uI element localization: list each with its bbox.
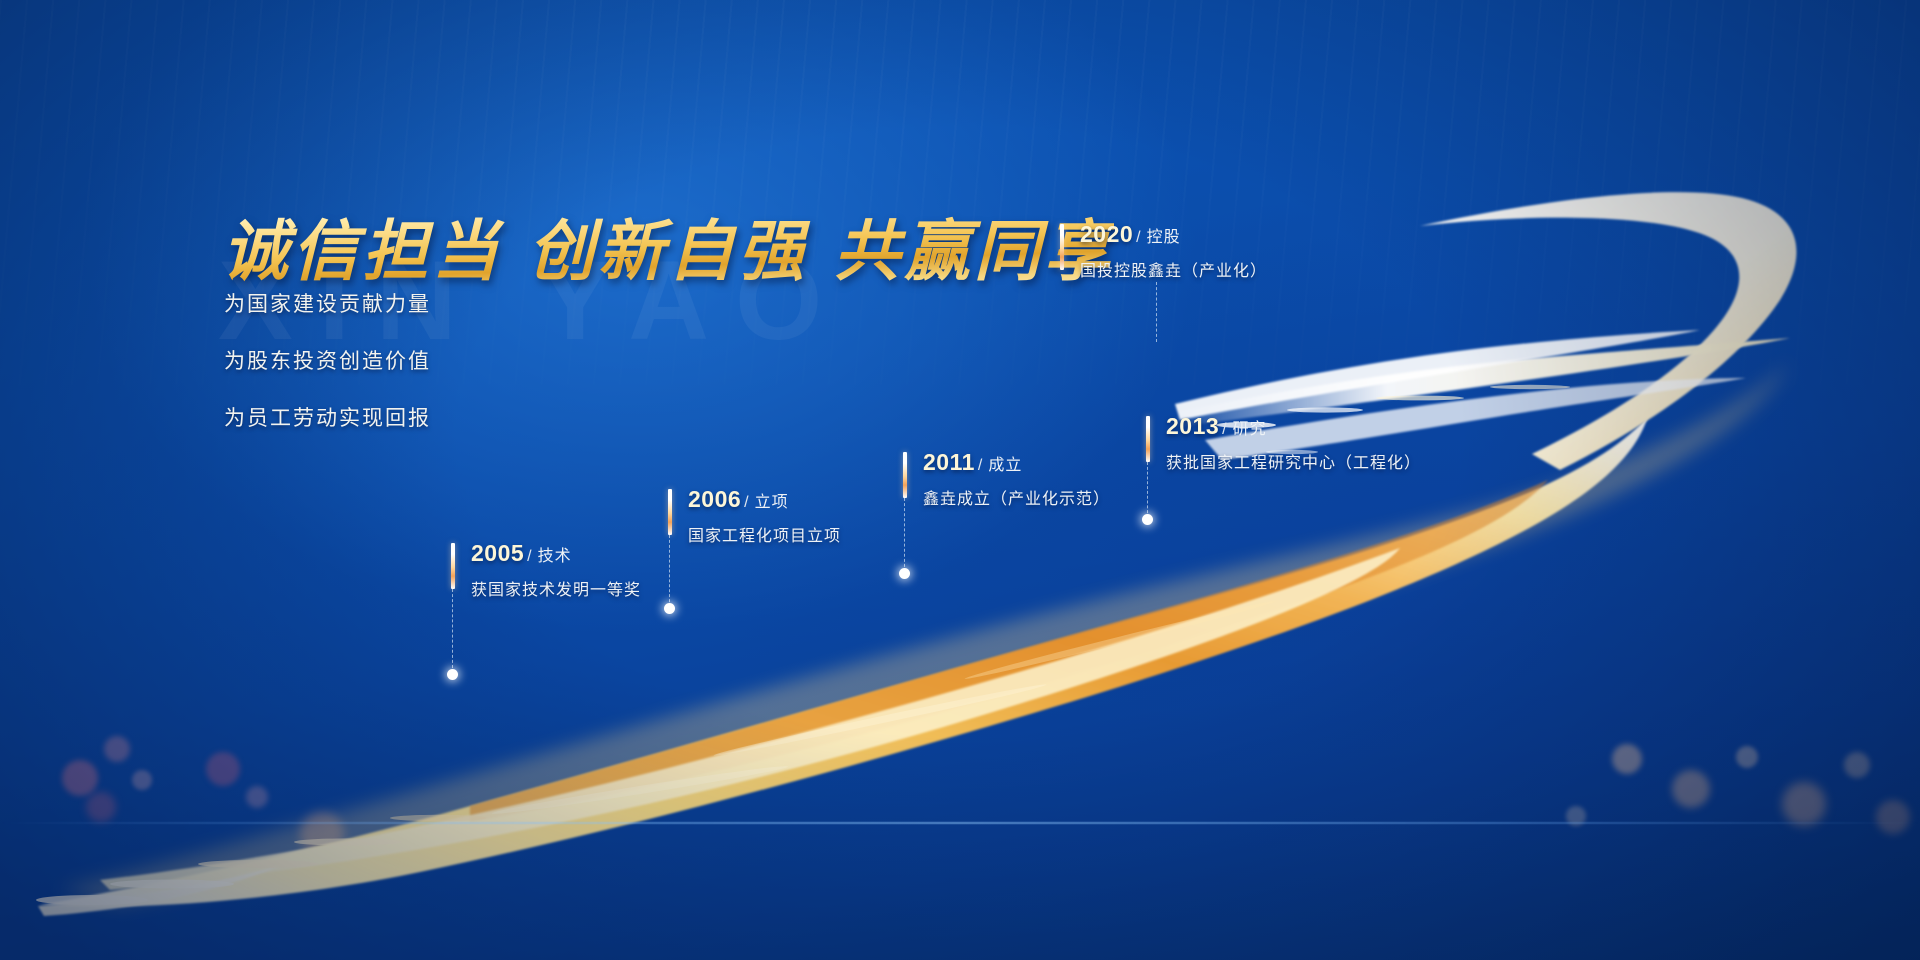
timeline-marker-bar (1146, 416, 1150, 462)
timeline-text-block: 2011/成立 鑫垚成立（产业化示范） (923, 449, 1110, 509)
timeline-year: 2020 (1080, 221, 1133, 247)
timeline-tag: /控股 (1136, 229, 1180, 246)
timeline-tag: /技术 (527, 548, 571, 565)
timeline-separator: / (1222, 421, 1227, 438)
bokeh-light (300, 812, 344, 856)
timeline-tag-label: 控股 (1147, 229, 1181, 246)
timeline-leader-line (904, 498, 905, 572)
timeline-heading: 2020/控股 (1080, 221, 1267, 248)
timeline-marker-bar (451, 543, 455, 589)
timeline-description: 获批国家工程研究中心（工程化） (1166, 449, 1421, 473)
bokeh-light (62, 760, 98, 796)
timeline-text-block: 2006/立项 国家工程化项目立项 (688, 486, 841, 546)
bokeh-light (1844, 752, 1870, 778)
timeline-separator: / (527, 548, 532, 565)
slogan-item: 为员工劳动实现回报 (224, 402, 431, 432)
timeline-heading: 2005/技术 (471, 540, 641, 567)
timeline-tag-label: 研究 (1233, 421, 1267, 438)
timeline-marker-bar (903, 452, 907, 498)
timeline-node-dot (447, 669, 458, 680)
page-title: 诚信担当创新自强共赢同享 (222, 198, 1114, 294)
timeline-leader-line (669, 535, 670, 607)
title-part-3: 共赢同享 (834, 212, 1114, 290)
bokeh-light (246, 786, 268, 808)
bokeh-light (104, 736, 130, 762)
timeline-node-dot (899, 568, 910, 579)
timeline-tag: /研究 (1222, 421, 1266, 438)
bokeh-light (1612, 744, 1642, 774)
bokeh-light (1566, 806, 1586, 826)
bokeh-light (132, 770, 152, 790)
timeline-tag: /立项 (744, 494, 788, 511)
timeline-separator: / (978, 457, 983, 474)
timeline-node-dot (1142, 514, 1153, 525)
timeline-description: 获国家技术发明一等奖 (471, 576, 641, 600)
bokeh-light (1876, 800, 1910, 834)
bokeh-light (360, 846, 378, 864)
bokeh-light (1782, 782, 1826, 826)
bokeh-light (1736, 746, 1758, 768)
timeline-year: 2005 (471, 540, 524, 566)
timeline-marker-bar (1060, 224, 1064, 270)
timeline-tag-label: 成立 (988, 457, 1022, 474)
timeline-text-block: 2020/控股 国投控股鑫垚（产业化） (1080, 221, 1267, 281)
timeline-marker-bar (668, 489, 672, 535)
timeline-separator: / (1136, 229, 1141, 246)
timeline-description: 国投控股鑫垚（产业化） (1080, 257, 1267, 281)
bokeh-light (206, 752, 240, 786)
title-part-1: 诚信担当 (222, 212, 502, 290)
bokeh-light (86, 792, 116, 822)
bokeh-light (1672, 770, 1710, 808)
slogan-item: 为国家建设贡献力量 (224, 288, 431, 318)
timeline-leader-line (1156, 282, 1157, 342)
timeline-description: 鑫垚成立（产业化示范） (923, 485, 1110, 509)
slogan-list: 为国家建设贡献力量 为股东投资创造价值 为员工劳动实现回报 (224, 288, 431, 459)
timeline-tag: /成立 (978, 457, 1022, 474)
timeline-heading: 2006/立项 (688, 486, 841, 513)
timeline-leader-line (1147, 462, 1148, 518)
timeline-tag-label: 技术 (538, 548, 572, 565)
horizon-light-line (0, 822, 1920, 824)
timeline-year: 2006 (688, 486, 741, 512)
timeline-text-block: 2005/技术 获国家技术发明一等奖 (471, 540, 641, 600)
title-part-2: 创新自强 (528, 212, 808, 290)
timeline-heading: 2011/成立 (923, 449, 1110, 476)
timeline-node-dot (664, 603, 675, 614)
timeline-heading: 2013/研究 (1166, 413, 1421, 440)
slogan-item: 为股东投资创造价值 (224, 345, 431, 375)
banner-canvas: XIN YAO 诚信担当创新自强共赢同享 为国家建设贡献力量 为股东投资创造价值… (0, 0, 1920, 960)
timeline-tag-label: 立项 (755, 494, 789, 511)
timeline-year: 2011 (923, 449, 975, 475)
timeline-text-block: 2013/研究 获批国家工程研究中心（工程化） (1166, 413, 1421, 473)
timeline-separator: / (744, 494, 749, 511)
timeline-leader-line (452, 589, 453, 673)
timeline-year: 2013 (1166, 413, 1219, 439)
timeline-description: 国家工程化项目立项 (688, 522, 841, 546)
